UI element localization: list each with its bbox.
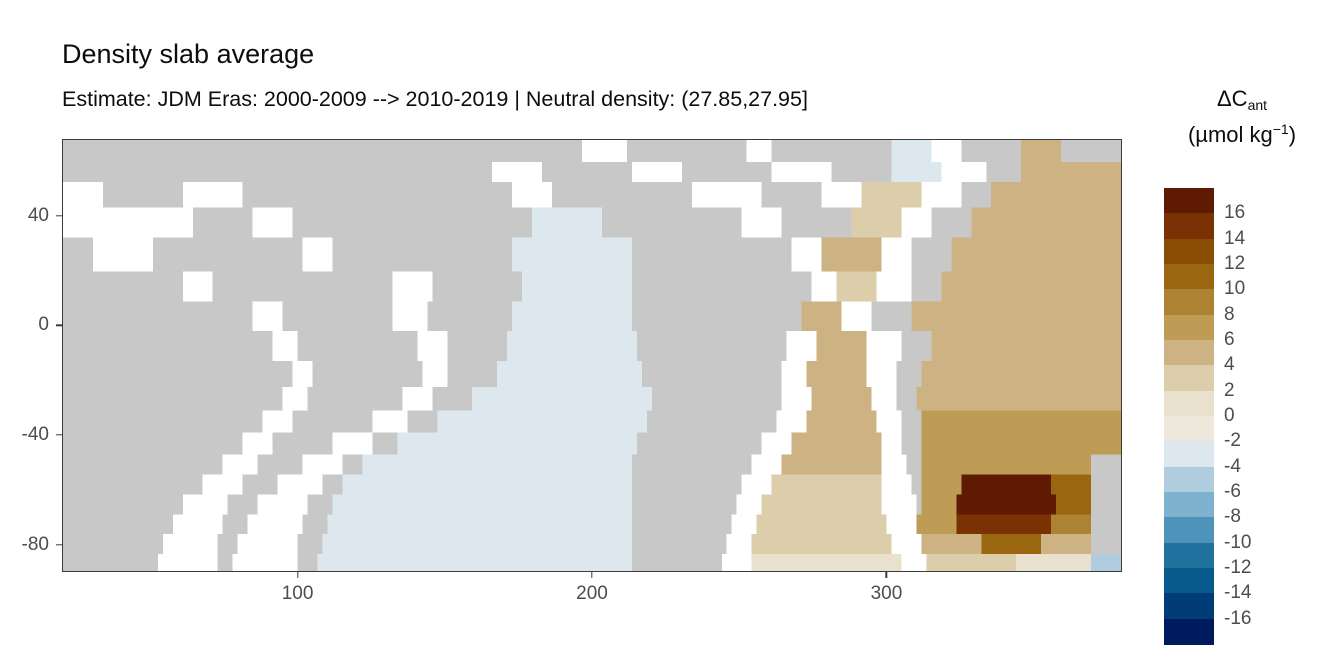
page-subtitle: Estimate: JDM Eras: 2000-2009 --> 2010-2… — [62, 86, 808, 112]
x-tick-mark — [886, 572, 887, 578]
x-tick-label: 300 — [871, 583, 903, 605]
y-tick-label: -40 — [22, 424, 49, 446]
colorbar-tick-label: -8 — [1224, 506, 1241, 528]
colorbar-band — [1164, 340, 1214, 366]
colorbar-band — [1164, 467, 1214, 493]
colorbar-tick-label: -2 — [1224, 430, 1241, 452]
colorbar-tick-label: 0 — [1224, 405, 1235, 427]
colorbar-band — [1164, 365, 1214, 391]
colorbar-band — [1164, 568, 1214, 594]
y-tick-label: 0 — [38, 314, 49, 336]
x-axis: 100200300 — [62, 572, 1122, 632]
colorbar-tick-label: -12 — [1224, 557, 1251, 579]
colorbar-band — [1164, 264, 1214, 290]
colorbar-tick-label: 16 — [1224, 202, 1245, 224]
colorbar-band — [1164, 517, 1214, 543]
page-title: Density slab average — [62, 38, 314, 70]
y-axis: 400-40-80 — [0, 139, 62, 572]
colorbar-tick-label: 4 — [1224, 354, 1235, 376]
colorbar-tick-label: 2 — [1224, 380, 1235, 402]
y-tick-label: -80 — [22, 534, 49, 556]
colorbar-legend: ΔCant (µmol kg−1) 1614121086420-2-4-6-8-… — [1140, 82, 1344, 657]
colorbar-band — [1164, 441, 1214, 467]
colorbar-band — [1164, 593, 1214, 619]
colorbar-tick-label: 8 — [1224, 304, 1235, 326]
colorbar-band — [1164, 492, 1214, 518]
x-tick-label: 100 — [282, 583, 314, 605]
colorbar-band — [1164, 213, 1214, 239]
x-tick-mark — [591, 572, 592, 578]
colorbar-band — [1164, 315, 1214, 341]
colorbar-band — [1164, 289, 1214, 315]
x-tick-mark — [297, 572, 298, 578]
colorbar-gradient — [1164, 188, 1214, 644]
map-panel[interactable] — [62, 139, 1122, 572]
colorbar-tick-label: 10 — [1224, 278, 1245, 300]
colorbar-band — [1164, 416, 1214, 442]
x-tick-label: 200 — [576, 583, 608, 605]
colorbar-tick-label: -14 — [1224, 582, 1251, 604]
colorbar-tick-label: -16 — [1224, 608, 1251, 630]
colorbar-band — [1164, 391, 1214, 417]
colorbar-tick-label: 14 — [1224, 228, 1245, 250]
colorbar-tick-label: -4 — [1224, 456, 1241, 478]
colorbar-tick-labels: 1614121086420-2-4-6-8-10-12-14-16 — [1224, 188, 1294, 644]
colorbar-tick-label: -6 — [1224, 481, 1241, 503]
colorbar-tick-label: 6 — [1224, 329, 1235, 351]
legend-title-units: (µmol kg−1) — [1188, 122, 1296, 147]
y-tick-label: 40 — [28, 205, 49, 227]
legend-title: ΔCant (µmol kg−1) — [1140, 82, 1344, 154]
legend-title-variable: ΔCant — [1217, 86, 1267, 111]
colorbar-band — [1164, 188, 1214, 214]
colorbar-band — [1164, 619, 1214, 645]
map-raster — [63, 140, 1121, 571]
colorbar-tick-label: -10 — [1224, 532, 1251, 554]
colorbar-tick-label: 12 — [1224, 253, 1245, 275]
colorbar-band — [1164, 543, 1214, 569]
colorbar-band — [1164, 239, 1214, 265]
